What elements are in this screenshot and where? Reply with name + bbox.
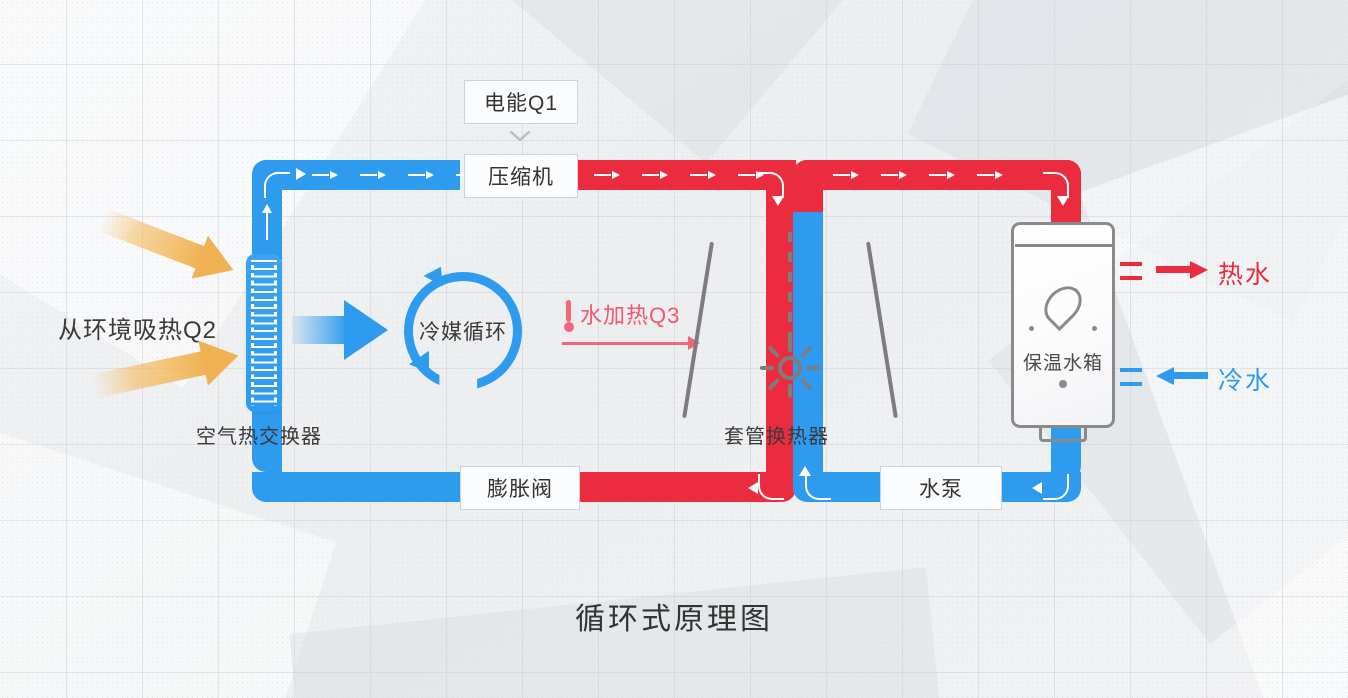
tank-foot [1039,428,1087,442]
casing-heat-exchanger-label: 套管换热器 [724,420,829,449]
burst-ray [767,378,780,391]
heat-burst-icon [762,340,818,396]
water-heating-arrow-shaft [562,342,690,345]
hot-water-arrow-icon [1156,261,1208,277]
tank-dot-right [1092,326,1097,331]
burst-ray [806,366,820,370]
cold-water-label: 冷水 [1218,361,1272,397]
refrigerant-flow-arrow-icon [292,300,388,360]
chevron-down-icon [508,128,532,144]
flow-arrow-icon [690,171,716,180]
hot-water-port-upper [1120,262,1142,266]
water-heating-label: 水加热Q3 [580,298,680,330]
refrigerant-cycle-icon[interactable]: 冷媒循环 [404,272,522,390]
corner-flow-arrow-icon [805,474,831,500]
coil-left-mask [251,260,254,406]
box-electric-energy[interactable]: 电能Q1 [464,80,578,124]
corner-arrow-head-icon [799,466,811,476]
thermometer-bulb [564,322,574,332]
center-dashed-line [788,232,792,352]
flow-markers [833,160,1003,190]
arrow-shaft [292,316,348,344]
pipe-red-down-b [793,160,823,212]
ambient-heat-absorb-label: 从环境吸热Q2 [58,310,217,345]
pipe-blue-bottom-left [252,472,460,502]
box-water-pump-label: 水泵 [919,473,963,503]
arrow-shaft [1172,372,1208,379]
flow-arrow-icon [312,171,338,180]
insulated-water-tank-icon[interactable]: 保温水箱 [1011,222,1115,428]
page-title: 循环式原理图 [0,594,1348,638]
corner-flow-arrow-icon [1043,172,1069,198]
flow-markers [594,160,764,190]
corner-flow-arrow-icon [264,172,290,198]
flow-arrow-icon [881,171,907,180]
tank-dot-left [1029,326,1034,331]
tank-cap-line [1015,244,1112,247]
flow-arrow-icon [642,171,668,180]
pipe-red-top-b [793,160,1081,190]
hot-water-port-lower [1120,276,1142,280]
insulated-water-tank-label: 保温水箱 [1011,348,1115,375]
burst-core [778,356,802,380]
hot-water-label: 热水 [1218,255,1272,291]
burst-ray [800,345,813,358]
corner-arrow-head-icon [296,168,306,180]
flow-arrow-icon [833,171,859,180]
arrow-head [1190,261,1208,279]
arrow-shaft [1156,266,1192,273]
cold-water-port-lower [1120,382,1142,386]
cold-water-port-upper [1120,368,1142,372]
refrigerant-cycle-label: 冷媒循环 [404,272,522,390]
arrow-head [344,300,388,360]
corner-flow-arrow-icon [758,172,784,198]
thermometer-stem [566,300,571,322]
box-compressor-label: 压缩机 [488,161,554,191]
corner-arrow-head-icon [1032,482,1042,494]
box-compressor[interactable]: 压缩机 [464,154,578,198]
corner-arrow-head-icon [772,196,784,206]
tank-button-icon[interactable] [1059,380,1067,388]
box-expansion-valve-label: 膨胀阀 [487,473,553,503]
burst-ray [788,338,792,352]
corner-flow-arrow-icon [758,474,784,500]
air-heat-exchanger-label: 空气热交换器 [196,420,322,449]
flow-arrow-icon [977,171,1003,180]
box-electric-energy-label: 电能Q1 [484,87,558,117]
arrow-head [1156,367,1174,385]
casing-heat-exchanger-icon[interactable] [690,232,890,422]
corner-arrow-head-icon [748,482,758,494]
flow-arrow-icon [408,171,434,180]
burst-ray [800,378,813,391]
burst-ray [760,366,774,370]
air-heat-exchanger-icon[interactable] [246,254,282,412]
thermometer-icon [562,300,575,332]
box-water-pump[interactable]: 水泵 [880,466,1002,510]
flow-arrow-icon [594,171,620,180]
flow-markers [312,160,482,190]
flow-arrow-icon [360,171,386,180]
box-expansion-valve[interactable]: 膨胀阀 [460,466,580,510]
burst-ray [767,345,780,358]
diagram-canvas: 电能Q1 压缩机 膨胀阀 水泵 空气热交换器 从环境吸热Q2 冷媒循环 [0,0,1348,698]
corner-arrow-head-icon [1057,196,1069,206]
flow-arrow-icon [929,171,955,180]
cold-water-arrow-icon [1156,367,1208,383]
burst-ray [788,384,792,398]
coil-right-mask [274,260,277,406]
